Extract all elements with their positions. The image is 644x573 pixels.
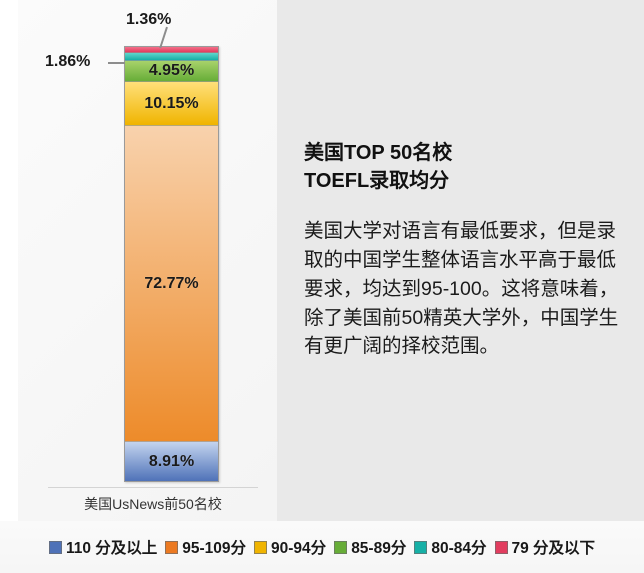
legend-swatch-icon xyxy=(165,541,178,554)
legend-item-79-and-below[interactable]: 79 分及以下 xyxy=(495,536,596,558)
chart-legend: 110 分及以上 95-109分 90-94分 85-89分 80-84分 79… xyxy=(0,521,644,573)
legend-item-110-and-above[interactable]: 110 分及以上 xyxy=(49,536,157,558)
bar-segment-85-89[interactable]: 4.95% xyxy=(125,61,218,82)
panel-title: 美国TOP 50名校 TOEFL录取均分 xyxy=(304,140,624,195)
x-axis-category-label: 美国UsNews前50名校 xyxy=(48,494,258,514)
legend-item-95-109[interactable]: 95-109分 xyxy=(165,536,246,558)
stacked-bar[interactable]: 4.95% 10.15% 72.77% 8.91% xyxy=(124,46,219,482)
legend-label: 80-84分 xyxy=(431,536,486,558)
legend-swatch-icon xyxy=(495,541,508,554)
legend-label: 110 分及以上 xyxy=(66,536,157,558)
legend-item-90-94[interactable]: 90-94分 xyxy=(254,536,326,558)
bar-value-85-89: 4.95% xyxy=(149,62,194,80)
bar-segment-80-84[interactable] xyxy=(125,53,218,61)
bar-segment-90-94[interactable]: 10.15% xyxy=(125,82,218,126)
legend-swatch-icon xyxy=(414,541,427,554)
legend-label: 95-109分 xyxy=(182,536,246,558)
legend-swatch-icon xyxy=(334,541,347,554)
legend-item-85-89[interactable]: 85-89分 xyxy=(334,536,406,558)
callout-label-80-84: 1.86% xyxy=(45,53,90,71)
legend-label: 79 分及以下 xyxy=(512,536,596,558)
legend-label: 85-89分 xyxy=(351,536,406,558)
legend-swatch-icon xyxy=(49,541,62,554)
legend-swatch-icon xyxy=(254,541,267,554)
info-panel: 美国TOP 50名校 TOEFL录取均分 美国大学对语言有最低要求，但是录取的中… xyxy=(277,0,644,521)
bar-value-110-and-above: 8.91% xyxy=(149,453,194,471)
x-axis-line xyxy=(48,487,258,488)
legend-item-80-84[interactable]: 80-84分 xyxy=(414,536,486,558)
bar-segment-110-and-above[interactable]: 8.91% xyxy=(125,442,218,481)
chart-panel: 4.95% 10.15% 72.77% 8.91% 1.36% 1.86% 美国… xyxy=(18,0,277,521)
callout-label-79-and-below: 1.36% xyxy=(126,11,171,29)
bar-value-90-94: 10.15% xyxy=(144,95,198,113)
bar-value-95-109: 72.77% xyxy=(144,275,198,293)
bar-segment-95-109[interactable]: 72.77% xyxy=(125,126,218,442)
panel-body-text: 美国大学对语言有最低要求，但是录取的中国学生整体语言水平高于最低要求，均达到95… xyxy=(304,217,634,361)
callout-leader-line-top xyxy=(159,27,167,48)
legend-label: 90-94分 xyxy=(271,536,326,558)
callout-leader-line-second xyxy=(108,62,125,64)
